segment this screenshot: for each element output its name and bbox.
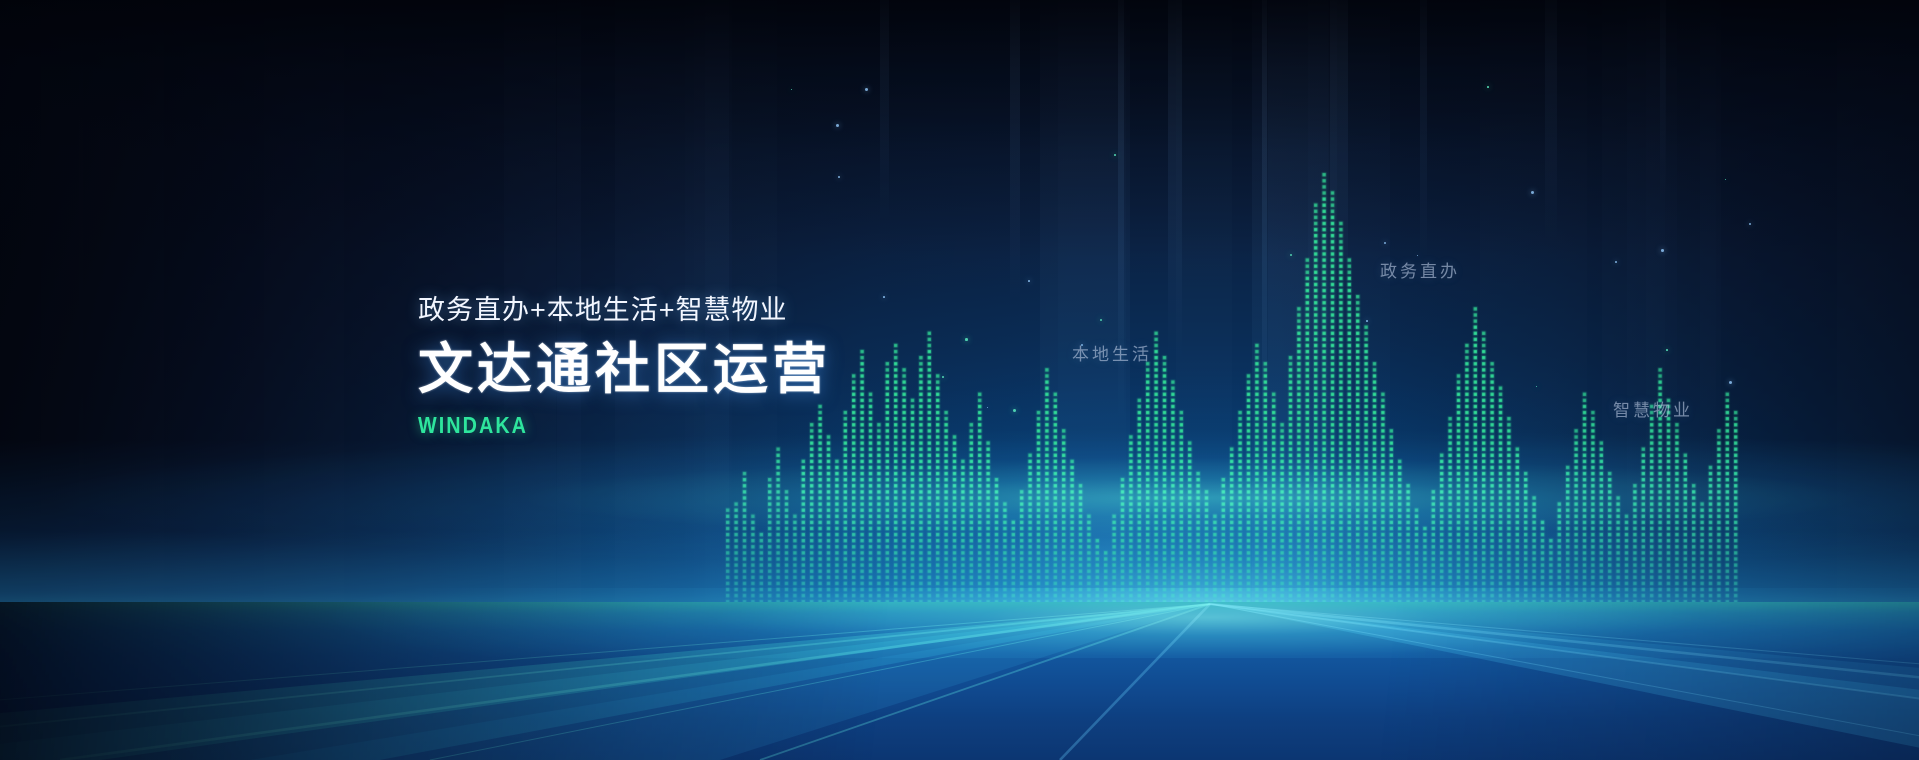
city-label-smart-property: 智慧物业 — [1613, 396, 1693, 421]
hero-brand-name: WINDAKA — [418, 412, 900, 439]
hero-subtitle: 政务直办+本地生活+智慧物业 — [418, 296, 978, 326]
city-label-government: 政务直办 — [1380, 257, 1460, 282]
hero-text-block: 政务直办+本地生活+智慧物业 文达通社区运营 WINDAKA — [418, 296, 978, 439]
hero-title: 文达通社区运营 — [418, 339, 978, 401]
ground-shadow-overlay — [0, 602, 1919, 760]
hero-banner: 政务直办 本地生活 智慧物业 政务直办+本地生活+智慧物业 文达通社区运营 WI… — [0, 0, 1919, 760]
city-label-local-life: 本地生活 — [1072, 340, 1152, 365]
